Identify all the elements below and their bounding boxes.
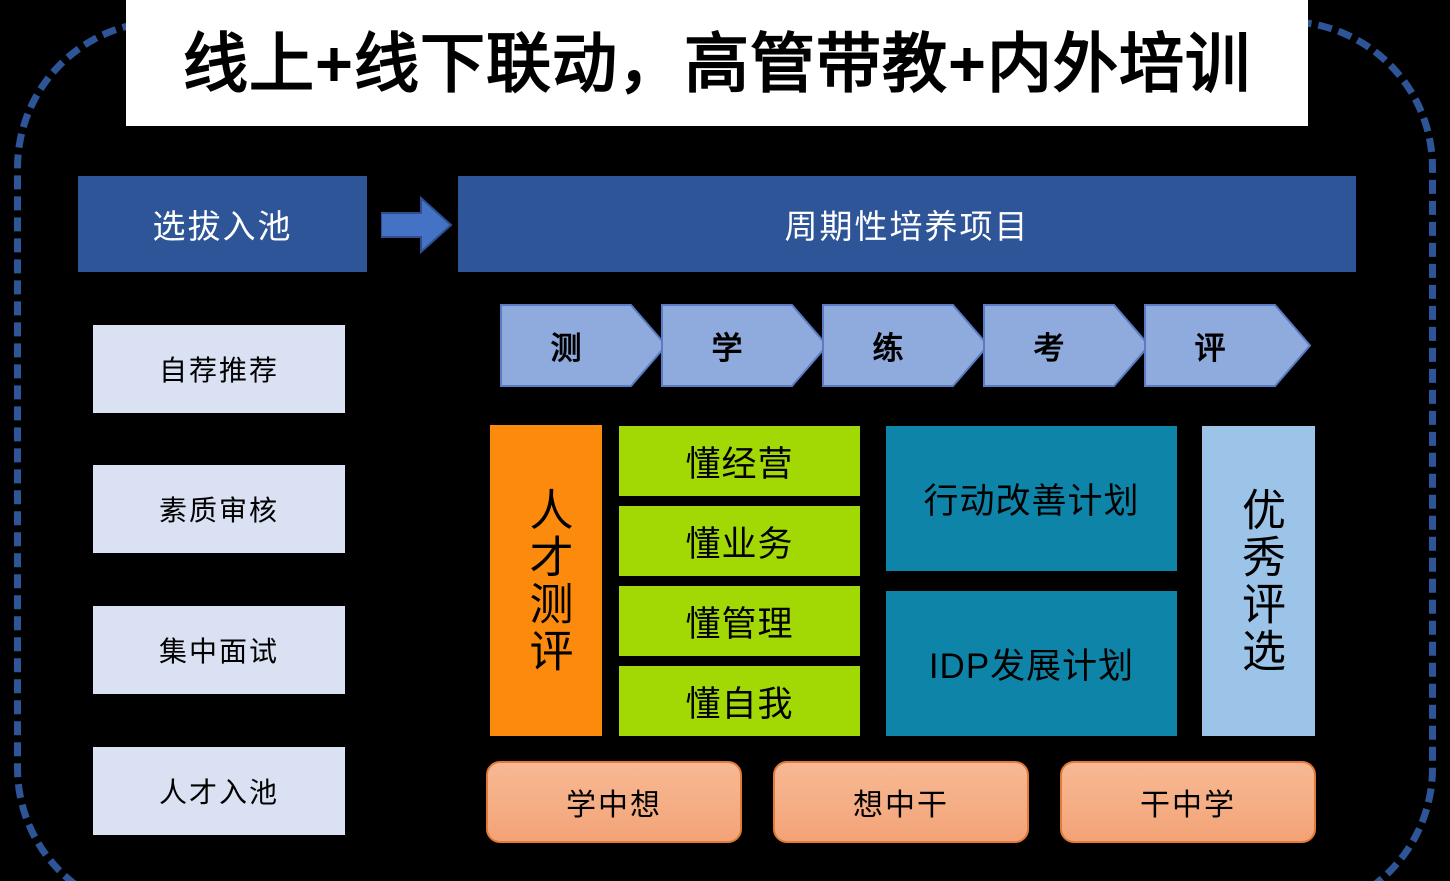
learning-loop-item-1-label: 学中想 [566, 780, 662, 824]
plan-item-2[interactable]: IDP发展计划 [886, 591, 1177, 736]
excellence-award-block[interactable]: 优秀评选 [1202, 426, 1315, 736]
phase-chevron-4-label: 考 [983, 304, 1115, 387]
plan-list: 行动改善计划 IDP发展计划 [886, 426, 1177, 736]
competency-item-3[interactable]: 懂管理 [619, 586, 860, 656]
phase-chevron-3[interactable]: 练 [822, 304, 990, 387]
phase-chevron-2[interactable]: 学 [661, 304, 829, 387]
excellence-award-label: 优秀评选 [1236, 487, 1281, 675]
talent-assessment-block[interactable]: 人才测评 [490, 425, 602, 736]
selection-pool-header-label: 选拔入池 [153, 200, 293, 248]
page-title: 线上+线下联动，高管带教+内外培训 [183, 31, 1251, 96]
learning-loop-item-3[interactable]: 干中学 [1060, 761, 1316, 843]
selection-step-4[interactable]: 人才入池 [93, 747, 345, 835]
selection-step-1-label: 自荐推荐 [159, 349, 279, 389]
phase-chevron-1-label: 测 [500, 304, 632, 387]
plan-item-1[interactable]: 行动改善计划 [886, 426, 1177, 571]
page-title-box: 线上+线下联动，高管带教+内外培训 [126, 0, 1308, 126]
competency-item-3-label: 懂管理 [685, 596, 793, 647]
selection-pool-header: 选拔入池 [78, 176, 367, 272]
phase-chevron-2-label: 学 [661, 304, 793, 387]
competency-item-2[interactable]: 懂业务 [619, 506, 860, 576]
phase-chevron-5[interactable]: 评 [1144, 304, 1312, 387]
learning-loop-item-1[interactable]: 学中想 [486, 761, 742, 843]
competency-item-1[interactable]: 懂经营 [619, 426, 860, 496]
competency-list: 懂经营 懂业务 懂管理 懂自我 [619, 426, 860, 736]
selection-step-2-label: 素质审核 [159, 489, 279, 529]
phase-chevron-row: 测 学 练 考 评 [500, 304, 1320, 387]
plan-item-1-label: 行动改善计划 [923, 473, 1139, 524]
phase-chevron-1[interactable]: 测 [500, 304, 668, 387]
selection-step-4-label: 人才入池 [159, 771, 279, 811]
phase-chevron-3-label: 练 [822, 304, 954, 387]
program-header-label: 周期性培养项目 [785, 200, 1030, 248]
learning-loop-item-2-label: 想中干 [853, 780, 949, 824]
program-header: 周期性培养项目 [458, 176, 1356, 272]
competency-item-2-label: 懂业务 [685, 516, 793, 567]
selection-step-3[interactable]: 集中面试 [93, 606, 345, 694]
arrow-right-icon [381, 196, 453, 254]
learning-loop-item-2[interactable]: 想中干 [773, 761, 1029, 843]
talent-assessment-label: 人才测评 [524, 487, 569, 675]
selection-step-2[interactable]: 素质审核 [93, 465, 345, 553]
competency-item-4-label: 懂自我 [685, 676, 793, 727]
selection-step-3-label: 集中面试 [159, 630, 279, 670]
plan-item-2-label: IDP发展计划 [929, 638, 1134, 689]
phase-chevron-5-label: 评 [1144, 304, 1276, 387]
competency-item-4[interactable]: 懂自我 [619, 666, 860, 736]
phase-chevron-4[interactable]: 考 [983, 304, 1151, 387]
selection-step-1[interactable]: 自荐推荐 [93, 325, 345, 413]
competency-item-1-label: 懂经营 [685, 436, 793, 487]
diagram-canvas: 线上+线下联动，高管带教+内外培训 选拔入池 自荐推荐 素质审核 集中面试 人才… [0, 0, 1450, 881]
learning-loop-item-3-label: 干中学 [1140, 780, 1236, 824]
learning-loop-row: 学中想 想中干 干中学 [486, 761, 1316, 843]
